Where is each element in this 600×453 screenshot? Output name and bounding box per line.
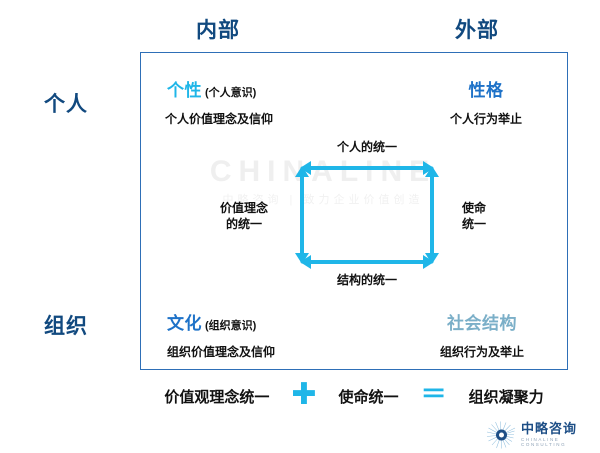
- arrow-label-left-line1: 价值理念: [196, 200, 292, 216]
- arrow-top-shaft: [311, 166, 423, 170]
- quadrant-top-right-heading: 性格: [450, 76, 522, 101]
- quadrant-top-left-description: 个人价值理念及信仰: [165, 110, 273, 127]
- column-header-external: 外部: [455, 14, 499, 44]
- equation-term-1: 价值观理念统一: [164, 386, 269, 407]
- quadrant-bottom-left-title: 文化: [167, 314, 202, 333]
- chinaline-burst-icon: [486, 421, 516, 449]
- quadrant-top-right: 性格 个人行为举止: [450, 76, 522, 127]
- quadrant-top-left-title: 个性: [167, 81, 202, 100]
- equation-term-2: 使命统一: [339, 386, 399, 407]
- arrow-bottom-shaft: [311, 260, 423, 264]
- arrow-label-top: 个人的统一: [283, 139, 451, 155]
- column-header-internal: 内部: [196, 14, 240, 44]
- arrow-right-shaft: [430, 177, 434, 253]
- quadrant-top-left-parenthetical: (个人意识): [205, 87, 256, 99]
- brand-tagline: CHINALINE CONSULTING: [521, 438, 590, 448]
- quadrant-bottom-left: 文化(组织意识) 组织价值理念及信仰: [167, 309, 275, 360]
- quadrant-top-right-description: 个人行为举止: [450, 110, 522, 127]
- diagram-canvas: 内部 外部 个人 组织 CHINALINE 中略咨询 | 致力企业价值创造 个性…: [0, 0, 600, 453]
- quadrant-bottom-right-description: 组织行为及举止: [440, 343, 524, 360]
- arrow-label-left: 价值理念 的统一: [196, 200, 292, 232]
- equals-icon: ＝: [421, 381, 447, 407]
- arrow-label-right-line2: 统一: [462, 216, 532, 232]
- arrow-left-up-head: [295, 166, 309, 177]
- quadrant-bottom-right-heading: 社会结构: [440, 309, 524, 334]
- quadrant-bottom-left-heading: 文化(组织意识): [167, 309, 275, 334]
- row-header-organization: 组织: [44, 310, 88, 340]
- plus-icon: ✚: [291, 380, 316, 410]
- arrow-label-right-line1: 使命: [462, 200, 532, 216]
- quadrant-bottom-right: 社会结构 组织行为及举止: [440, 309, 524, 360]
- quadrant-top-left: 个性(个人意识) 个人价值理念及信仰: [167, 76, 273, 127]
- arrow-label-left-line2: 的统一: [196, 216, 292, 232]
- unity-arrow-rectangle: [300, 166, 434, 264]
- brand-text: 中略咨询 CHINALINE CONSULTING: [521, 422, 590, 447]
- quadrant-bottom-left-parenthetical: (组织意识): [205, 320, 256, 332]
- arrow-right-up-head: [425, 166, 439, 177]
- quadrant-top-left-heading: 个性(个人意识): [167, 76, 273, 101]
- arrow-right-down-head: [425, 253, 439, 264]
- brand-logo: 中略咨询 CHINALINE CONSULTING: [486, 420, 590, 450]
- arrow-left-shaft: [300, 177, 304, 253]
- row-header-individual: 个人: [44, 88, 88, 118]
- arrow-left-down-head: [295, 253, 309, 264]
- brand-name: 中略咨询: [521, 422, 590, 436]
- quadrant-bottom-left-description: 组织价值理念及信仰: [167, 343, 275, 360]
- arrow-label-right: 使命 统一: [462, 200, 532, 232]
- summary-equation: 价值观理念统一 ✚ 使命统一 ＝ 组织凝聚力: [140, 382, 568, 410]
- equation-result: 组织凝聚力: [469, 386, 544, 407]
- quadrant-bottom-right-title: 社会结构: [447, 314, 517, 333]
- quadrant-top-right-title: 性格: [469, 81, 504, 100]
- arrow-label-bottom: 结构的统一: [283, 272, 451, 288]
